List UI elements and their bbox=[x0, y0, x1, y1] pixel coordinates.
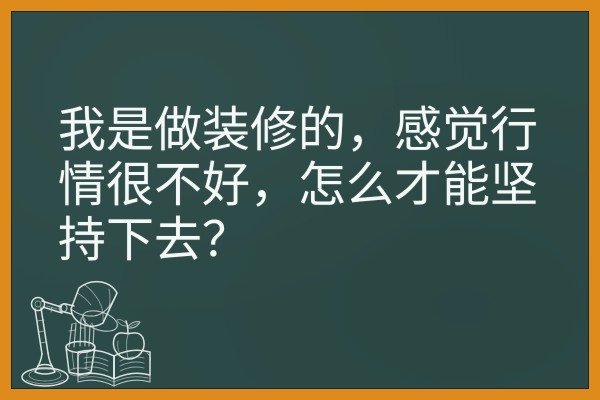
apple-icon bbox=[113, 319, 144, 359]
chalk-desk-illustration bbox=[19, 276, 184, 389]
headline-line-2: 情很不好，怎么才能坚 bbox=[58, 158, 563, 213]
chalkboard-panel: 我是做装修的，感觉行 情很不好，怎么才能坚 持下去？ bbox=[11, 11, 589, 389]
headline-line-3: 持下去？ bbox=[58, 213, 563, 268]
headline-line-1: 我是做装修的，感觉行 bbox=[58, 103, 563, 158]
poster-canvas: 我是做装修的，感觉行 情很不好，怎么才能坚 持下去？ bbox=[0, 0, 600, 400]
page-title: 我是做装修的，感觉行 情很不好，怎么才能坚 持下去？ bbox=[58, 103, 563, 268]
open-book-icon bbox=[77, 350, 150, 386]
